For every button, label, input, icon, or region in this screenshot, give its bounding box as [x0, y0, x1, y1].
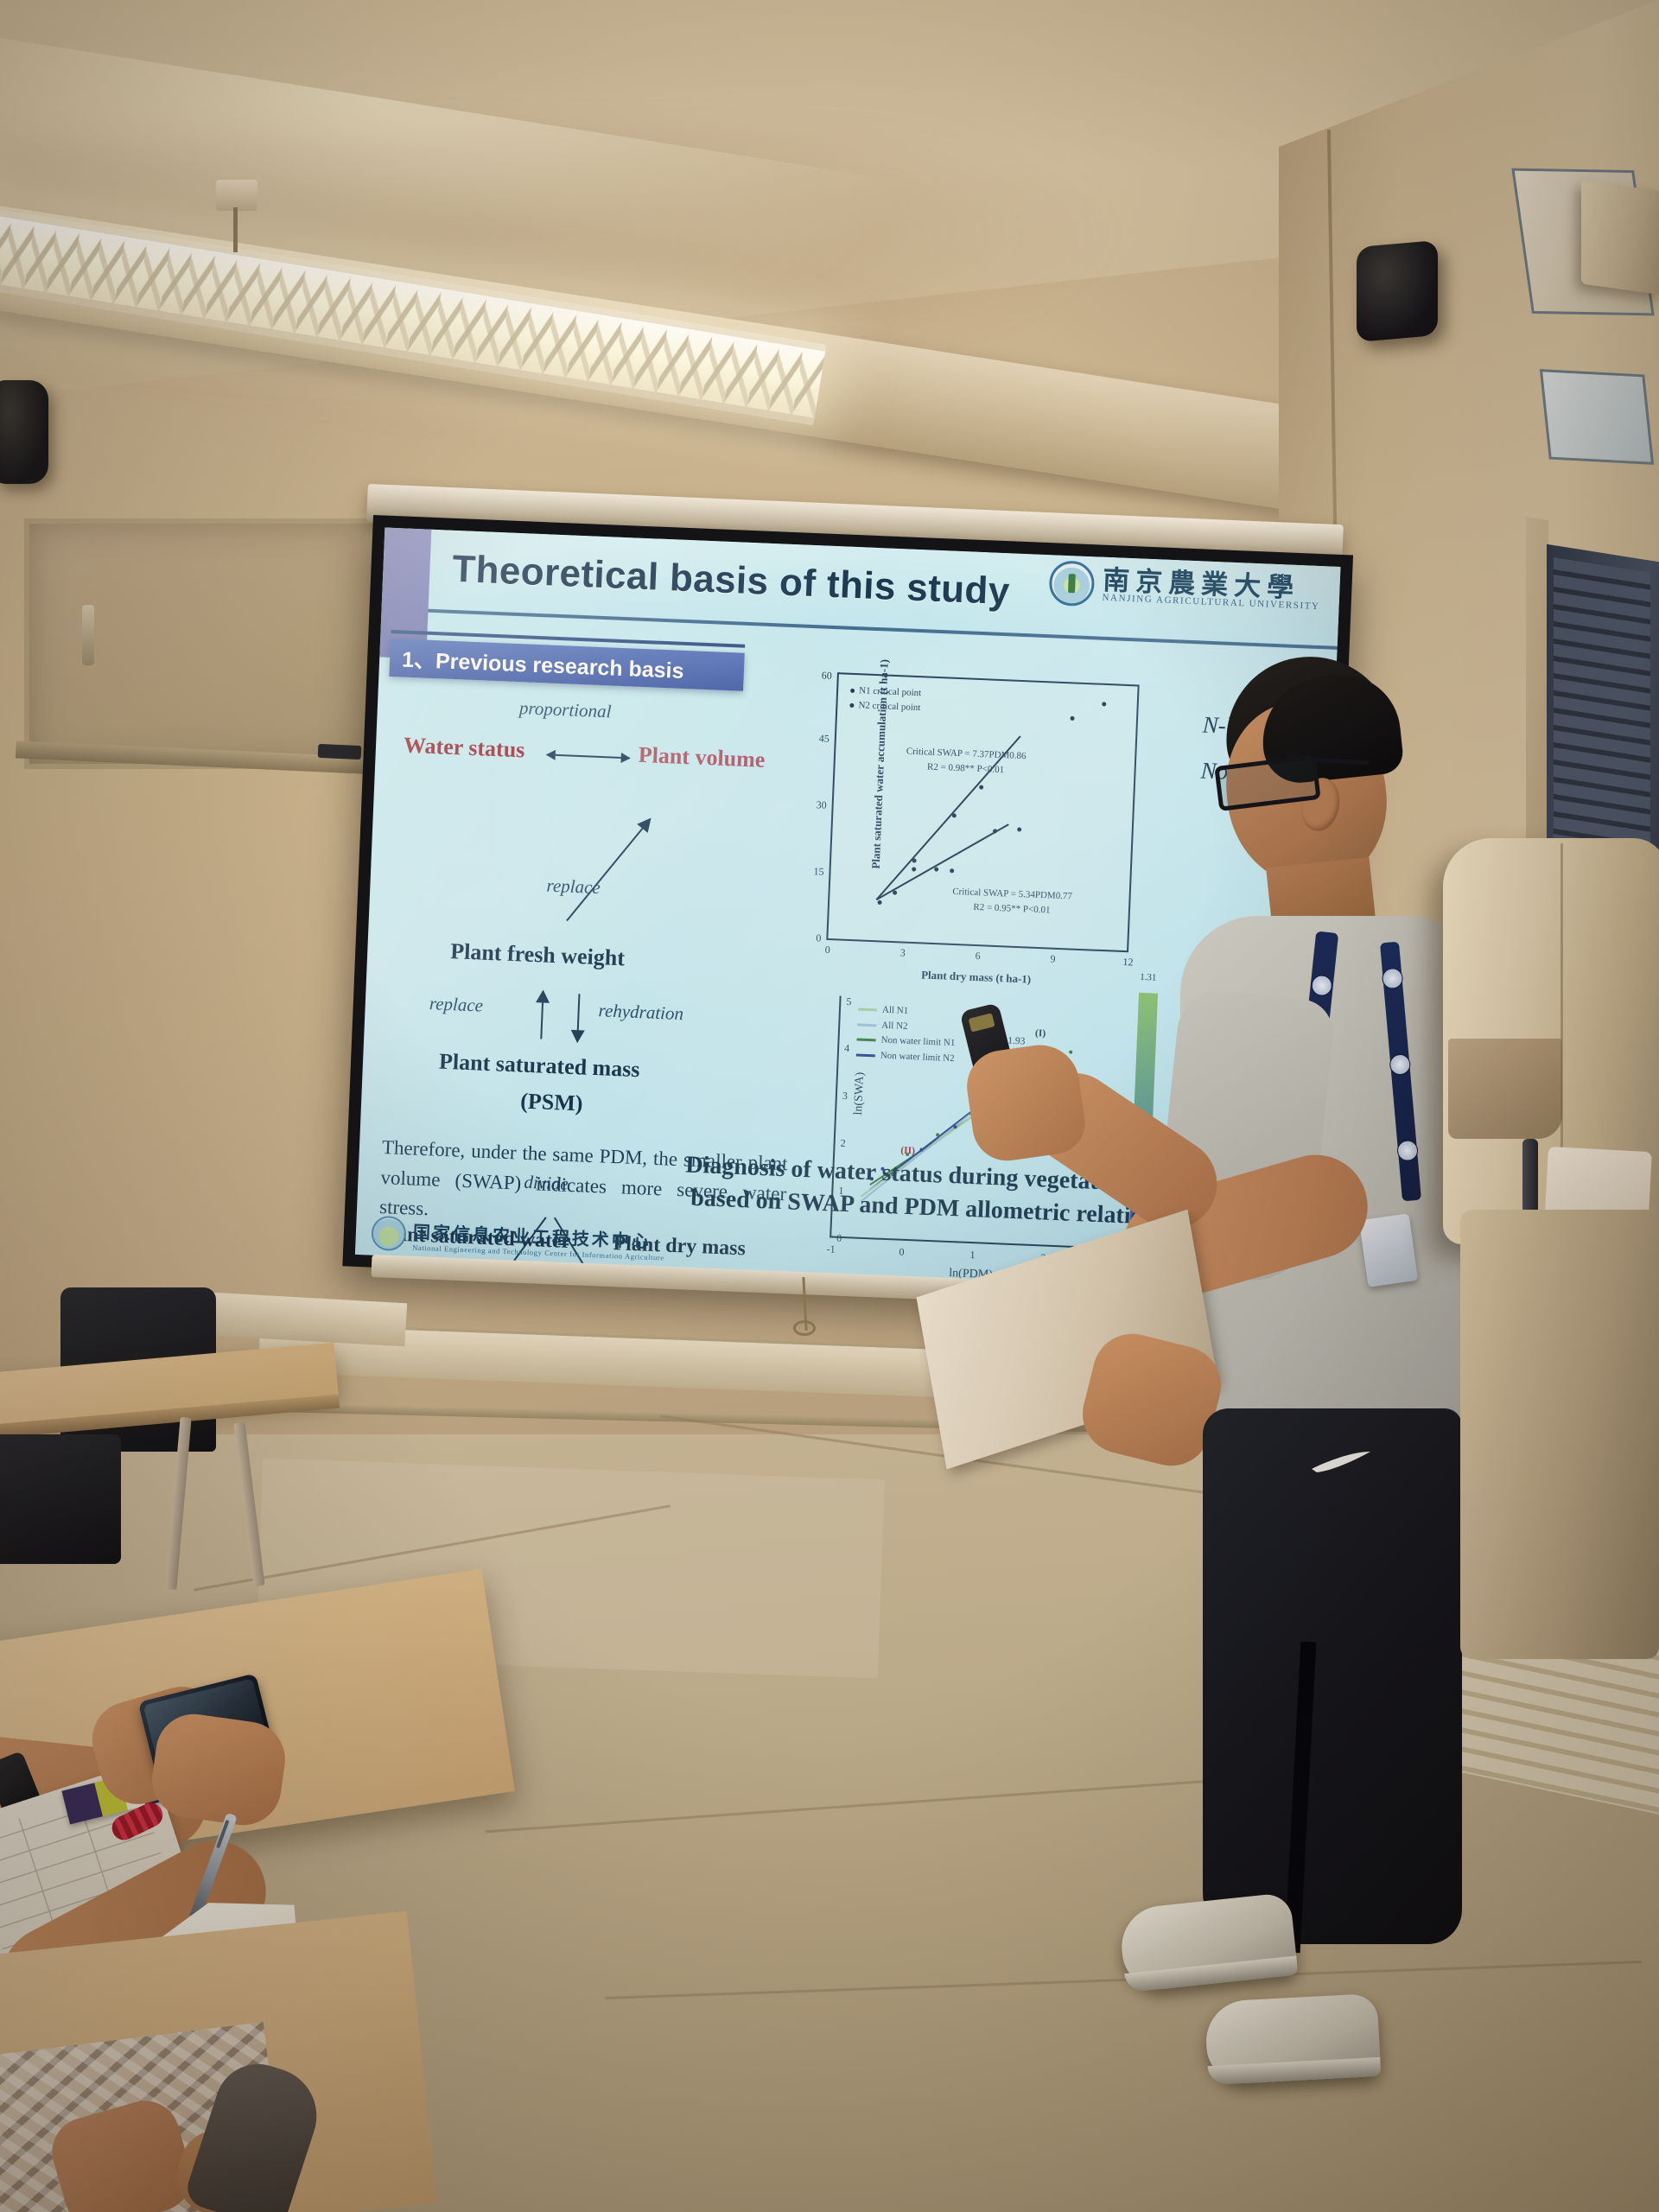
down-arrow-icon [576, 994, 580, 1040]
chart1-y-tick: 30 [816, 798, 827, 811]
screen-pull-ring[interactable] [793, 1320, 816, 1336]
chart1-x-tick: 9 [1050, 953, 1056, 966]
paper-towel-dispenser[interactable] [1443, 838, 1659, 1244]
flow-link-rehydration: rehydration [598, 1000, 683, 1025]
double-arrow-icon [547, 753, 630, 759]
wall-notice-frame [1540, 369, 1654, 465]
flow-link-proportional: proportional [518, 697, 612, 722]
chart1-data-point [1102, 702, 1106, 706]
chart2-y-tick: 5 [846, 995, 852, 1008]
chart1-legend-item: N2 critical point [858, 700, 921, 713]
id-badge [1359, 1213, 1418, 1287]
up-arrow-icon [540, 992, 543, 1039]
wall-mounted-dispenser[interactable] [1581, 180, 1659, 295]
section-banner: 1、Previous research basis [389, 639, 744, 691]
dispenser-stand [1460, 1210, 1659, 1659]
chart2-x-tick: 1 [969, 1249, 976, 1262]
flow-link-replace-diagonal: replace [546, 875, 601, 899]
chart1-data-point [950, 868, 954, 873]
chart2-y-tick: 0 [836, 1232, 842, 1245]
legend-line-icon [856, 1053, 875, 1057]
chart1-data-point [1070, 716, 1074, 721]
flow-link-replace-up: replace [429, 993, 483, 1017]
research-center-seal-icon [371, 1216, 407, 1252]
legend-dot-icon [849, 703, 854, 708]
chart1-data-point [912, 867, 916, 871]
chart1-data-point [893, 891, 897, 895]
chart1-data-point [952, 813, 957, 817]
chart1-y-tick: 15 [813, 865, 824, 878]
chart1-data-point [878, 900, 882, 905]
flow-node-water-status: Water status [403, 733, 524, 764]
chart2-annotation: (I) [1035, 1027, 1046, 1041]
nike-swoosh-icon [1310, 1450, 1372, 1476]
chart2-y-tick: 3 [842, 1090, 849, 1103]
dispenser-window [1448, 1039, 1562, 1139]
chart1-data-point [934, 867, 938, 871]
chart2-legend-item: All N2 [881, 1020, 908, 1031]
wall-speaker [1357, 240, 1438, 342]
chart1-y-tick: 0 [816, 931, 822, 944]
chart-critical-swap-vs-pdm: Plant saturated water accumulation (t ha… [826, 672, 1139, 952]
chart1-legend: N1 critical point N2 critical point [849, 683, 921, 715]
presenter-pants [1203, 1408, 1462, 1944]
chart2-legend: All N1 All N2 Non water limit N1 Non wat… [855, 1001, 957, 1066]
legend-line-icon [857, 1023, 876, 1027]
chart1-y-tick: 45 [819, 732, 830, 745]
chart2-x-tick: 0 [899, 1246, 905, 1259]
chart2-y-tick: 2 [840, 1137, 846, 1150]
chart1-legend-item: N1 critical point [859, 685, 922, 698]
chart1-data-point [912, 858, 917, 862]
legend-dot-icon [850, 689, 855, 693]
lecture-room-photo: Theoretical basis of this study 南京農業大學 N… [0, 0, 1659, 2212]
chair[interactable] [0, 1434, 121, 1564]
chart2-data-point [953, 1125, 957, 1128]
chart1-x-tick: 3 [899, 946, 906, 959]
chart2-legend-item: Non water limit N1 [880, 1035, 955, 1049]
wall-speaker [0, 380, 48, 484]
chart1-data-point [1017, 827, 1021, 831]
chart1-data-point [979, 785, 983, 790]
whiteboard-eraser[interactable] [318, 744, 362, 760]
nanjing-agricultural-university-seal-icon [1048, 560, 1095, 607]
chart1-x-tick: 6 [975, 950, 981, 963]
sneaker [1205, 1993, 1382, 2085]
chart1-x-axis-label: Plant dry mass (t ha-1) [826, 964, 1125, 990]
diagonal-arrow-icon [566, 820, 650, 921]
chart1-data-point [993, 829, 997, 833]
ceiling-rod [233, 207, 238, 252]
chart1-y-tick: 60 [822, 669, 833, 682]
sneaker [1118, 1892, 1299, 1993]
presenter-hand [963, 1040, 1090, 1166]
flow-node-psm-line2: (PSM) [520, 1089, 583, 1117]
legend-line-icon [858, 1007, 877, 1011]
legend-line-icon [857, 1039, 876, 1042]
ceiling-fitting [216, 180, 257, 211]
chart2-x-tick: -1 [826, 1243, 836, 1255]
chart2-legend-item: Non water limit N2 [880, 1050, 955, 1064]
marker[interactable] [82, 605, 94, 665]
chart1-x-tick: 0 [824, 944, 830, 957]
flow-node-plant-volume: Plant volume [638, 742, 766, 773]
presenter [1132, 657, 1460, 2005]
chart2-y-tick: 4 [844, 1042, 850, 1055]
chart2-legend-item: All N1 [882, 1005, 909, 1016]
